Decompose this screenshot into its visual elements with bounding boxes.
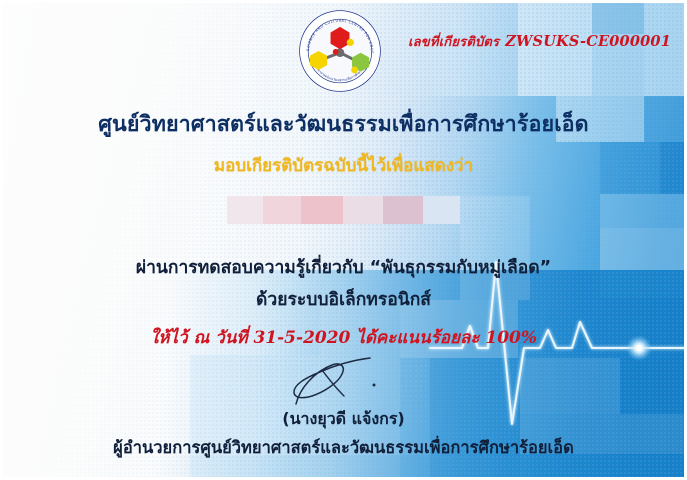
signer-name: (นางยุวดี แจ้งกร)	[0, 407, 687, 432]
signature-mark	[278, 352, 418, 408]
certificate-canvas: ROI ET SCIENCE AND CULTURAL CENTRE FOR E…	[0, 0, 687, 480]
passed-statement: ผ่านการทดสอบความรู้เกี่ยวกับ “พันธุกรรมก…	[0, 253, 687, 281]
method-statement: ด้วยระบบอิเล็กทรอนิกส์	[0, 285, 687, 313]
issue-statement-prefix: ให้ไว้ ณ วันที่	[150, 328, 248, 348]
score-statement-prefix: ได้คะแนนร้อยละ	[356, 328, 479, 348]
issue-date-and-score: ให้ไว้ ณ วันที่ 31-5-2020 ได้คะแนนร้อยละ…	[0, 324, 687, 351]
recipient-name-redacted	[227, 196, 460, 224]
certificate-number-label: เลขที่เกียรติบัตร	[408, 35, 499, 50]
score-value: 100%	[485, 328, 537, 348]
award-statement: มอบเกียรติบัตรฉบับนี้ไว้เพื่อแสดงว่า	[0, 152, 687, 179]
certificate-number-value: ZWSUKS-CE000001	[505, 33, 671, 50]
signer-role: ผู้อำนวยการศูนย์วิทยาศาสตร์และวัฒนธรรมเพ…	[0, 435, 687, 461]
certificate-number: เลขที่เกียรติบัตรZWSUKS-CE000001	[0, 31, 671, 52]
organization-title: ศูนย์วิทยาศาสตร์และวัฒนธรรมเพื่อการศึกษา…	[0, 107, 687, 141]
issue-date-value: 31-5-2020	[253, 328, 350, 348]
